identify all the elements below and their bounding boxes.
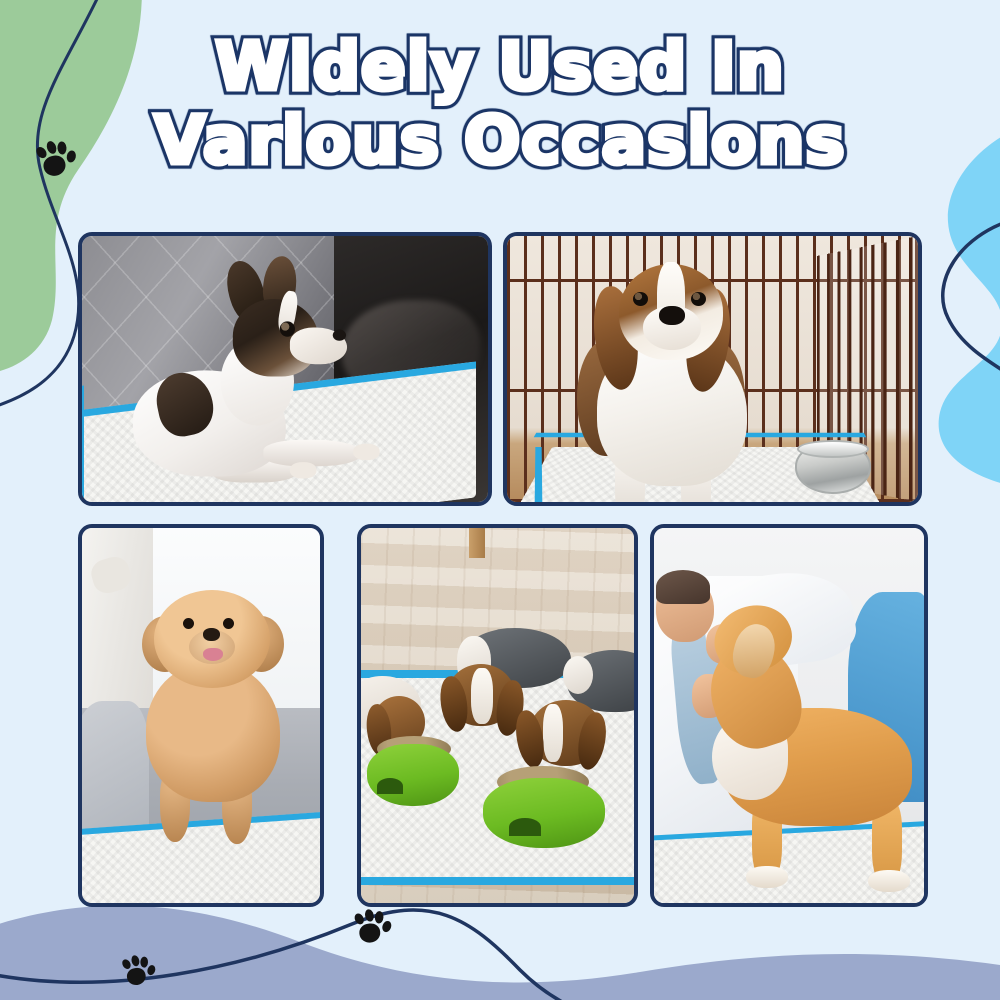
dog-eye (183, 618, 194, 629)
water-bowl-rim (797, 440, 869, 458)
pet-pad-trim (82, 386, 84, 502)
dog-eye (280, 321, 295, 336)
photo-panel-dog-in-crate[interactable] (503, 232, 922, 506)
table-leg (469, 528, 485, 558)
dog-eye (223, 618, 234, 629)
photo-panel-vet-exam[interactable] (650, 524, 928, 907)
paw-toe (364, 909, 375, 923)
photo-sofa-scene (82, 528, 320, 903)
photo-panel-dog-in-car[interactable] (78, 232, 492, 506)
bowl-notch (377, 778, 403, 794)
photo-panel-dog-on-sofa[interactable] (78, 524, 324, 907)
headline-line-2: Various Occasions (148, 104, 851, 178)
photo-car-scene (82, 236, 488, 502)
dog-nose (659, 306, 685, 325)
dog-eye (633, 292, 648, 306)
dog-body-marking (563, 656, 593, 694)
curve-bottom (0, 910, 660, 1000)
dog-face-blaze (543, 704, 563, 762)
paw-bottom-left (119, 953, 159, 990)
photo-feeding-scene (361, 528, 634, 903)
dog-nose (203, 628, 220, 641)
headline-line-1: Widely Used In (209, 30, 790, 104)
paw-pad (358, 923, 381, 944)
dog-paw (353, 444, 380, 460)
dog-nose (333, 330, 346, 341)
dog-foreleg (263, 440, 361, 467)
paw-bottom-center (351, 907, 394, 947)
food-bowl-center (483, 778, 605, 848)
paw-toe (374, 911, 383, 924)
paw-pad (126, 967, 147, 986)
paw-toe (140, 956, 148, 967)
photo-panel-puppies-feeding[interactable] (357, 524, 638, 907)
dog-tongue (203, 648, 223, 661)
dog-face-blaze (471, 668, 493, 724)
paw-toe (381, 920, 393, 934)
headline: Widely Used In Various Occasions (0, 30, 1000, 178)
food-bowl-left (367, 744, 459, 806)
dog-paw (290, 462, 317, 478)
dog-eye (691, 292, 706, 306)
curve-right (943, 220, 1000, 396)
pet-pad-trim (535, 447, 543, 502)
paw-toe (130, 954, 140, 967)
photo-crate-scene (507, 236, 918, 502)
paw-toe (146, 964, 156, 976)
pet-pad-trim (361, 877, 634, 885)
photo-vet-scene (654, 528, 924, 903)
bowl-notch (509, 818, 541, 836)
vet-hair (656, 570, 710, 604)
promo-banner: Widely Used In Various Occasions (0, 0, 1000, 1000)
